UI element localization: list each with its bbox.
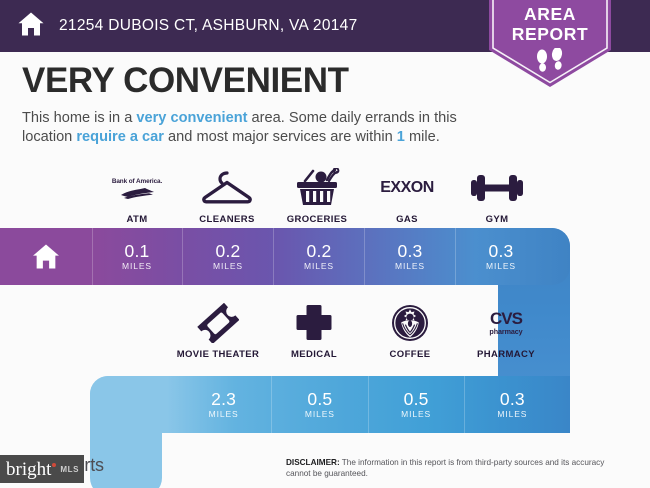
boa-flag-icon — [119, 187, 155, 199]
distance-row-2: 2.3 MILES 0.5 MILES 0.5 MILES 0.3 MILES — [176, 376, 560, 433]
cvs-subtext: pharmacy — [489, 328, 522, 335]
home-icon — [17, 11, 45, 42]
dumbbell-icon — [471, 168, 523, 208]
distance-value: 0.5 — [404, 390, 429, 409]
distance-cell: 0.3 MILES — [365, 228, 456, 285]
amenity-label: GYM — [486, 214, 509, 225]
amenity-movie-theater: MOVIE THEATER — [170, 303, 266, 360]
badge-line-1: AREA — [489, 4, 611, 24]
distance-row-1: 0.1 MILES 0.2 MILES 0.2 MILES 0.3 MILES … — [92, 228, 550, 285]
distance-cell: 0.5 MILES — [369, 376, 465, 433]
bank-of-america-logo: Bank of America. — [112, 168, 162, 208]
summary-highlight-2: require a car — [76, 129, 164, 145]
summary-highlight-3: 1 — [397, 129, 405, 145]
amenity-icons-row-1: Bank of America. ATM CLEANERS — [92, 168, 550, 225]
distance-cell: 0.3 MILES — [465, 376, 560, 433]
cvs-wordmark: CVS — [490, 310, 522, 327]
amenity-groceries: GROCERIES — [272, 168, 362, 225]
amenity-coffee: COFFEE — [362, 303, 458, 360]
distance-value: 0.3 — [489, 242, 514, 261]
amenity-label: GAS — [396, 214, 418, 225]
distance-unit: MILES — [497, 409, 527, 420]
distance-value: 0.2 — [216, 242, 241, 261]
distance-unit: MILES — [395, 261, 425, 272]
distance-cell: 0.2 MILES — [274, 228, 365, 285]
exxon-logo: EXXON — [380, 168, 434, 208]
grocery-basket-icon — [294, 168, 340, 208]
amenity-atm: Bank of America. ATM — [92, 168, 182, 225]
distance-unit: MILES — [304, 261, 334, 272]
distance-cell: 0.1 MILES — [92, 228, 183, 285]
bright-mls-logo: bright MLS — [0, 455, 84, 483]
distance-unit: MILES — [209, 409, 239, 420]
distance-cell: 0.3 MILES — [456, 228, 546, 285]
distance-cell: 2.3 MILES — [176, 376, 272, 433]
distance-value: 0.3 — [398, 242, 423, 261]
page-title: VERY CONVENIENT — [22, 61, 349, 101]
badge-title: AREA REPORT — [489, 4, 611, 44]
distance-value: 0.5 — [307, 390, 332, 409]
distance-value: 2.3 — [211, 390, 236, 409]
distance-unit: MILES — [486, 261, 516, 272]
distance-cell: 0.2 MILES — [183, 228, 274, 285]
disclaimer-label: DISCLAIMER: — [286, 458, 340, 467]
amenity-gas: EXXON GAS — [362, 168, 452, 225]
amenity-icons-row-2: MOVIE THEATER MEDICAL — [170, 303, 558, 360]
mls-wordmark: MLS — [60, 465, 79, 474]
amenity-label: MEDICAL — [291, 349, 337, 360]
amenity-pharmacy: CVS pharmacy PHARMACY — [458, 303, 554, 360]
amenity-cleaners: CLEANERS — [182, 168, 272, 225]
area-report-badge: AREA REPORT — [489, 0, 611, 87]
boa-wordmark: Bank of America. — [112, 178, 162, 185]
cvs-pharmacy-logo: CVS pharmacy — [489, 303, 522, 343]
distance-cell: 0.5 MILES — [272, 376, 368, 433]
area-report-page: 21254 DUBOIS CT, ASHBURN, VA 20147 AREA … — [0, 0, 650, 488]
amenity-label: CLEANERS — [199, 214, 254, 225]
disclaimer: DISCLAIMER: The information in this repo… — [286, 458, 622, 479]
home-icon — [31, 243, 61, 270]
exxon-wordmark: EXXON — [380, 179, 434, 197]
distance-value: 0.1 — [125, 242, 150, 261]
amenity-gym: GYM — [452, 168, 542, 225]
movie-ticket-icon — [197, 303, 239, 343]
footprints-icon — [533, 48, 569, 76]
distance-value: 0.2 — [307, 242, 332, 261]
segment-home — [0, 228, 93, 285]
summary-text: This home is in a very convenient area. … — [22, 109, 474, 146]
badge-line-2: REPORT — [489, 24, 611, 44]
bright-wordmark: bright — [6, 460, 51, 479]
summary-highlight-1: very convenient — [136, 110, 247, 126]
distance-unit: MILES — [213, 261, 243, 272]
distance-unit: MILES — [122, 261, 152, 272]
distance-value: 0.3 — [500, 390, 525, 409]
summary-part-3: and most major services are within — [164, 129, 397, 145]
amenity-label: PHARMACY — [477, 349, 535, 360]
summary-part-4: mile. — [405, 129, 440, 145]
amenity-label: ATM — [126, 214, 147, 225]
medical-cross-icon — [295, 303, 333, 343]
amenity-medical: MEDICAL — [266, 303, 362, 360]
amenity-label: GROCERIES — [287, 214, 348, 225]
summary-part-1: This home is in a — [22, 110, 136, 126]
distance-unit: MILES — [401, 409, 431, 420]
amenity-label: COFFEE — [390, 349, 431, 360]
property-address: 21254 DUBOIS CT, ASHBURN, VA 20147 — [59, 17, 358, 35]
starbucks-logo — [391, 303, 429, 343]
amenity-label: MOVIE THEATER — [177, 349, 260, 360]
distance-unit: MILES — [305, 409, 335, 420]
clothes-hanger-icon — [199, 168, 255, 208]
bright-dot-icon — [52, 463, 56, 467]
